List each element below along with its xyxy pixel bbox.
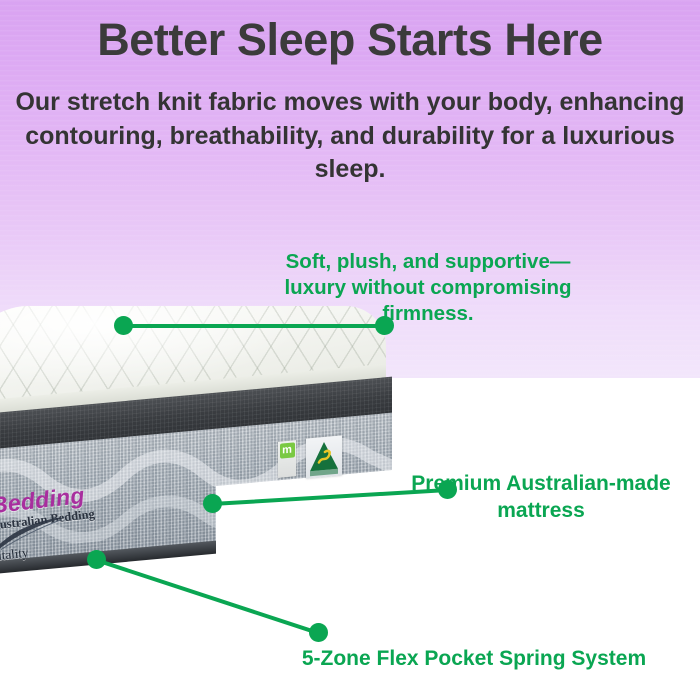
australian-made-icon (306, 435, 342, 478)
page-subtitle: Our stretch knit fabric moves with your … (8, 86, 692, 187)
poster-canvas: Better Sleep Starts Here Our stretch kni… (0, 0, 700, 700)
callout-comfort-label: Soft, plush, and supportive—luxury witho… (268, 249, 588, 328)
callout-origin-label: Premium Australian-made mattress (386, 471, 696, 525)
made-tag-letter: m (280, 442, 295, 458)
made-tag: m (278, 440, 296, 478)
callout-springs-dot (309, 623, 328, 642)
page-title: Better Sleep Starts Here (0, 16, 700, 63)
australian-made-tag (306, 435, 342, 478)
callout-springs-label: 5-Zone Flex Pocket Spring System (252, 646, 696, 673)
